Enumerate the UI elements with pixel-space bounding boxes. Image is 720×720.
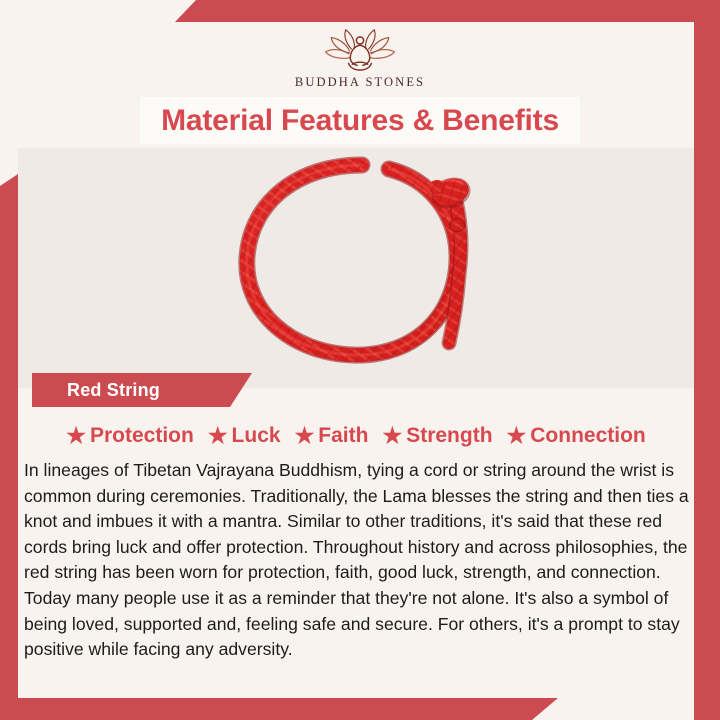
benefit-item-luck: ★ Luck (208, 424, 281, 448)
star-icon: ★ (382, 425, 402, 447)
star-icon: ★ (507, 425, 527, 447)
product-label: Red String (67, 380, 160, 401)
benefit-label: Faith (318, 424, 368, 448)
brand-header: BUDDHA STONES (0, 22, 720, 96)
product-label-banner: Red String (32, 373, 252, 407)
brand-name: BUDDHA STONES (295, 75, 425, 90)
benefit-label: Strength (406, 424, 492, 448)
decorative-bar-left (0, 174, 18, 720)
decorative-bar-bottom (0, 698, 560, 720)
page-title-banner: Material Features & Benefits (140, 97, 580, 144)
benefit-item-faith: ★ Faith (295, 424, 369, 448)
lotus-meditation-icon (321, 28, 399, 72)
benefit-label: Connection (530, 424, 646, 448)
benefit-label: Luck (232, 424, 281, 448)
star-icon: ★ (208, 425, 228, 447)
benefit-item-connection: ★ Connection (507, 424, 646, 448)
decorative-bar-right (694, 0, 720, 720)
benefit-item-strength: ★ Strength (382, 424, 492, 448)
decorative-bar-top (0, 0, 720, 22)
star-icon: ★ (66, 425, 86, 447)
red-braided-string-bracelet-icon (221, 153, 491, 369)
benefits-list: ★ Protection ★ Luck ★ Faith ★ Strength ★… (18, 418, 694, 454)
product-image (18, 148, 694, 373)
page-title: Material Features & Benefits (161, 104, 559, 138)
description-paragraph: In lineages of Tibetan Vajrayana Buddhis… (24, 458, 696, 663)
benefit-item-protection: ★ Protection (66, 424, 194, 448)
infographic-page: BUDDHA STONES Material Features & Benefi… (0, 0, 720, 720)
benefit-label: Protection (90, 424, 194, 448)
star-icon: ★ (295, 425, 315, 447)
